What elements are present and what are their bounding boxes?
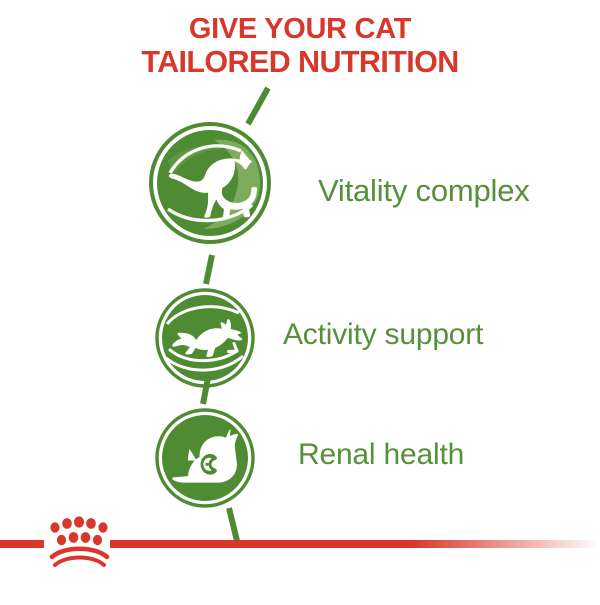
- brand-rule-right: [110, 540, 600, 548]
- feature-label-renal-health: Renal health: [298, 438, 464, 472]
- feature-label-vitality-complex: Vitality complex: [318, 173, 530, 209]
- feature-icon-renal-health[interactable]: [155, 408, 255, 508]
- title-line-1: GIVE YOUR CAT: [0, 13, 600, 45]
- page-title: GIVE YOUR CAT TAILORED NUTRITION: [0, 13, 600, 80]
- brand-rule-and-logo: [0, 510, 600, 600]
- cat-standing-icon: [148, 121, 272, 245]
- feature-label-activity-support: Activity support: [283, 318, 483, 352]
- dash-segment-mid-1: [206, 255, 212, 284]
- cat-jumping-arrow-icon: [155, 288, 255, 388]
- feature-icon-activity-support[interactable]: [155, 288, 255, 388]
- feature-icon-vitality-complex[interactable]: [148, 121, 272, 245]
- footer-brand-bar: [0, 510, 600, 600]
- cat-kidney-icon: [155, 408, 255, 508]
- brand-rule-left: [0, 540, 44, 548]
- royal-canin-crown-icon: [50, 516, 107, 565]
- title-line-2: TAILORED NUTRITION: [0, 45, 600, 79]
- promo-canvas: GIVE YOUR CAT TAILORED NUTRITION: [0, 0, 600, 600]
- dash-segment-top: [248, 88, 268, 124]
